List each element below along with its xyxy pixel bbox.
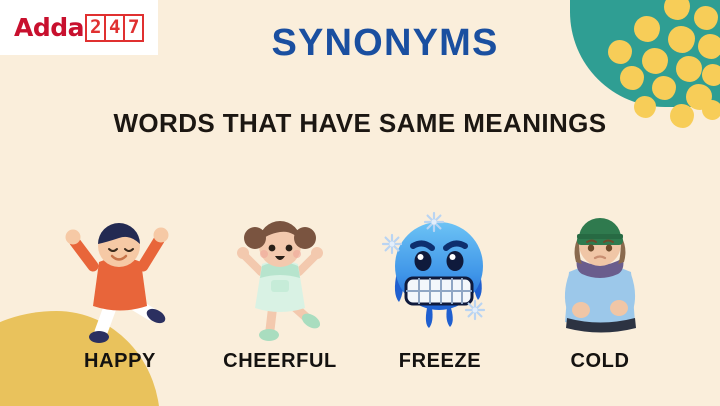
yellow-dot xyxy=(652,76,676,100)
yellow-dots-decoration xyxy=(590,0,720,125)
brand-logo-digit-2: 4 xyxy=(106,14,125,42)
synonym-label-happy: HAPPY xyxy=(84,350,156,373)
synonym-card-row: HAPPY xyxy=(0,178,720,373)
brand-logo-word: Adda xyxy=(14,13,84,42)
jumping-boy-illustration xyxy=(55,206,185,346)
brand-logo-digit-3: 7 xyxy=(125,14,144,42)
yellow-dot xyxy=(702,64,720,86)
yellow-dot xyxy=(698,34,720,59)
page-title: SYNONYMS xyxy=(170,22,600,65)
synonyms-poster: Adda 2 4 7 SYNONYMS WORDS THAT HAVE SAME… xyxy=(0,0,720,406)
synonym-card-happy: HAPPY xyxy=(45,183,195,373)
brand-logo-text: Adda 2 4 7 xyxy=(14,13,144,42)
synonym-label-freeze: FREEZE xyxy=(399,350,482,373)
yellow-dot xyxy=(620,66,644,90)
synonym-card-cold: COLD xyxy=(525,183,675,373)
dancing-girl-illustration xyxy=(215,206,345,346)
page-subtitle: WORDS THAT HAVE SAME MEANINGS xyxy=(0,108,720,139)
yellow-dot xyxy=(634,16,660,42)
yellow-dot xyxy=(608,40,632,64)
yellow-dot xyxy=(642,48,668,74)
shivering-person-illustration xyxy=(535,200,665,340)
synonym-label-cheerful: CHEERFUL xyxy=(223,350,337,373)
brand-logo-digits: 2 4 7 xyxy=(85,14,144,42)
synonym-label-cold: COLD xyxy=(570,350,629,373)
freezing-face-emoji xyxy=(375,200,505,340)
brand-logo-digit-1: 2 xyxy=(85,14,106,42)
synonym-card-freeze: FREEZE xyxy=(365,183,515,373)
brand-logo[interactable]: Adda 2 4 7 xyxy=(0,0,158,55)
yellow-dot xyxy=(694,6,718,30)
yellow-dot xyxy=(664,0,690,20)
yellow-dot xyxy=(676,56,702,82)
synonym-card-cheerful: CHEERFUL xyxy=(205,183,355,373)
yellow-dot xyxy=(668,26,695,53)
